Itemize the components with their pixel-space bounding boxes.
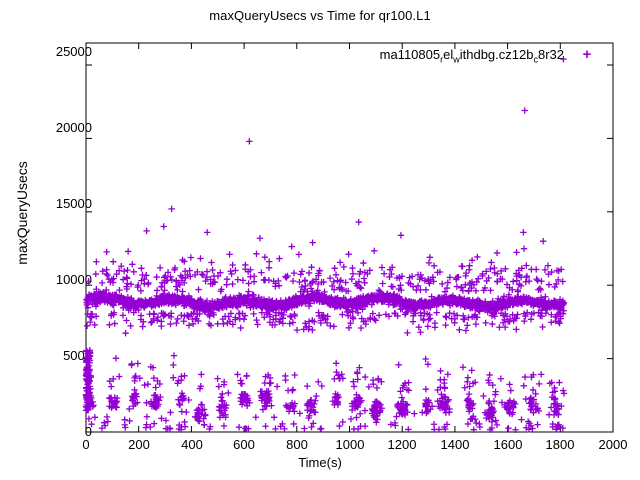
scatter-plot: maxQueryUsecs vs Time for qr100.L1 maxQu… [0, 0, 640, 480]
data-points [83, 56, 567, 433]
plot-canvas [0, 0, 640, 480]
